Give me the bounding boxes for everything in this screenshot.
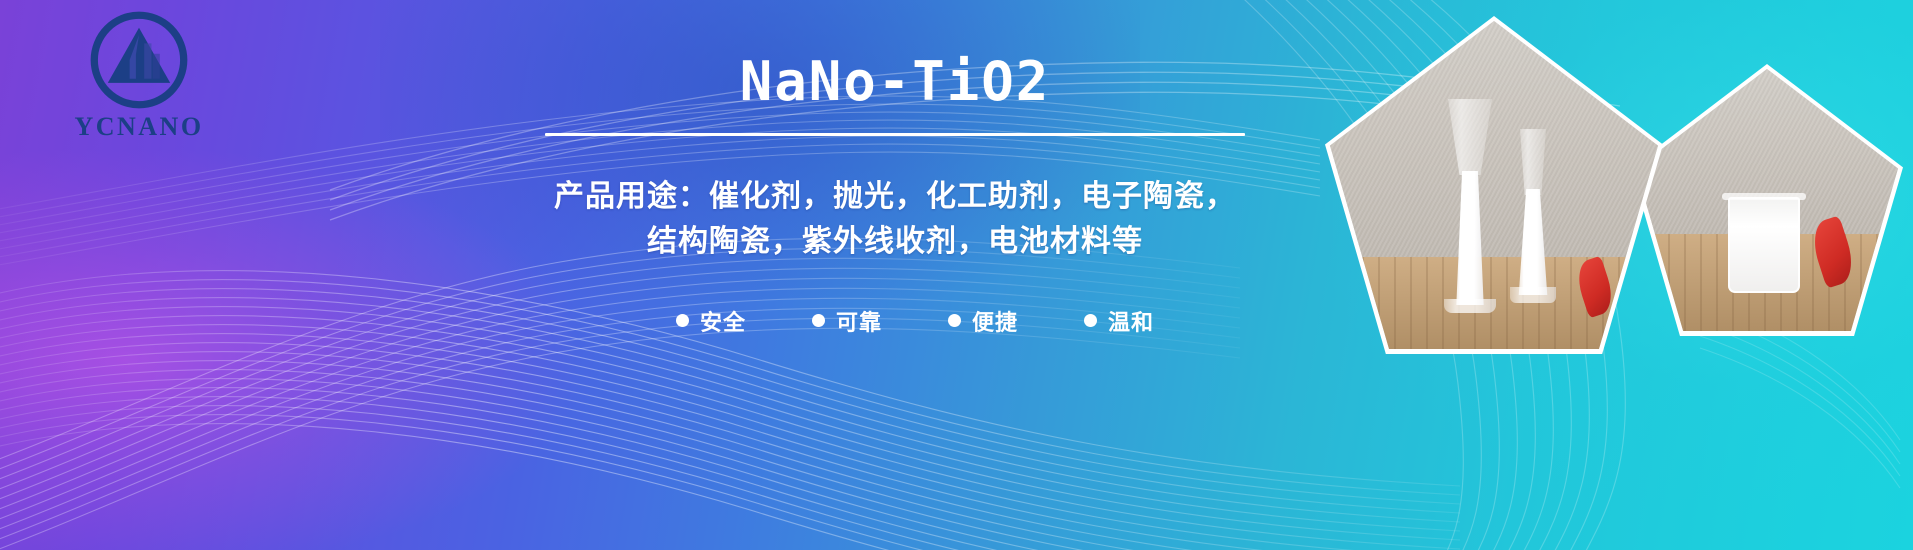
bullet-dot-icon	[948, 314, 961, 327]
feature-label: 安全	[700, 305, 746, 337]
photo-clip	[1330, 21, 1658, 349]
short-vase-base	[1510, 287, 1556, 303]
bullet-dot-icon	[812, 314, 825, 327]
brand-wordmark: YCNANO	[44, 114, 234, 140]
product-photo-group	[1143, 0, 1913, 550]
tall-vase-base	[1444, 299, 1496, 313]
feature-item-safe: 安全	[676, 305, 746, 337]
title-divider	[545, 133, 1245, 136]
beaker-rim	[1722, 193, 1806, 200]
feature-item-convenient: 便捷	[948, 305, 1018, 337]
product-photo-vases[interactable]	[1325, 16, 1663, 354]
feature-item-reliable: 可靠	[812, 305, 882, 337]
photo-clip	[1636, 69, 1898, 331]
brand-logo[interactable]: YCNANO	[44, 8, 234, 160]
photo-backdrop	[1330, 21, 1658, 257]
bullet-dot-icon	[1084, 314, 1097, 327]
product-photo-beaker[interactable]	[1631, 64, 1903, 336]
feature-label: 便捷	[972, 305, 1018, 337]
product-banner: YCNANO NaNo-TiO2 产品用途：催化剂，抛光，化工助剂，电子陶瓷， …	[0, 0, 1913, 550]
ycnano-mountain-circle-icon	[87, 8, 191, 112]
bullet-dot-icon	[676, 314, 689, 327]
feature-label: 可靠	[836, 305, 882, 337]
beaker-icon	[1728, 197, 1800, 293]
